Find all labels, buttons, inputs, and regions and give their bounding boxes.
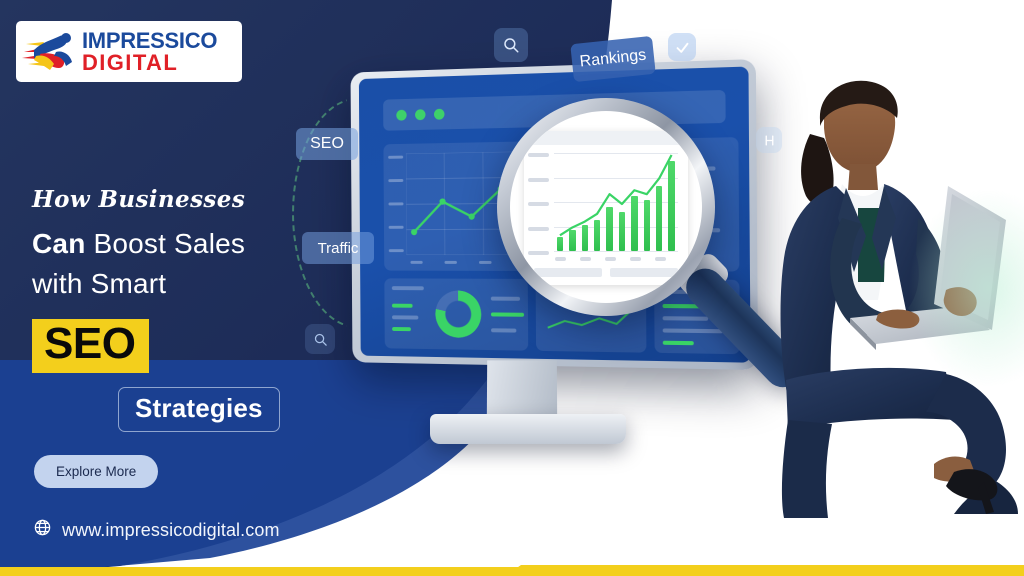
x-tick — [445, 261, 457, 264]
y-tick — [388, 156, 403, 159]
website-url-text: www.impressicodigital.com — [62, 520, 280, 541]
footer-chip — [610, 268, 678, 277]
headline-boxed-strategies: Strategies — [118, 387, 280, 432]
magnifying-glass — [497, 98, 797, 398]
floating-tag-label: Rankings — [579, 47, 647, 72]
y-tick-label — [528, 227, 549, 231]
check-icon[interactable] — [668, 33, 696, 61]
headline-line-3: with Smart — [32, 264, 332, 304]
search-icon[interactable] — [494, 28, 528, 62]
businesswoman-with-laptop — [758, 68, 1024, 518]
x-tick — [410, 261, 422, 264]
y-tick-label — [528, 251, 549, 255]
brand-logo[interactable]: IMPRESSICO DIGITAL — [16, 21, 242, 82]
window-dot — [415, 109, 425, 120]
globe-icon — [33, 518, 52, 542]
report-card-header — [524, 131, 688, 145]
y-tick — [388, 179, 403, 182]
headline-line-2: Can Boost Sales — [32, 224, 332, 264]
headline-line-2-rest: Boost Sales — [86, 228, 246, 259]
magnifier-bar-chart — [554, 153, 678, 251]
window-dot — [396, 109, 406, 120]
window-dot — [434, 108, 445, 119]
grid-line — [554, 251, 678, 252]
x-tick-label — [655, 257, 666, 261]
headline-block: How Businesses Can Boost Sales with Smar… — [32, 186, 332, 432]
magnifier-lens — [497, 98, 715, 316]
x-tick-label — [555, 257, 566, 261]
y-tick — [389, 249, 404, 252]
y-tick — [388, 202, 403, 205]
x-tick-label — [580, 257, 591, 261]
bottom-yellow-bar — [505, 565, 1024, 576]
logo-text-digital: DIGITAL — [82, 52, 217, 74]
x-tick-label — [630, 257, 641, 261]
explore-more-button[interactable]: Explore More — [34, 455, 158, 488]
footer-chip — [534, 268, 602, 277]
headline-highlight-seo: SEO — [32, 319, 149, 373]
floating-tag-seo[interactable]: SEO — [296, 128, 358, 160]
green-glow — [908, 188, 1024, 388]
floating-tag-label: SEO — [310, 135, 344, 153]
headline-script-line: How Businesses — [32, 186, 332, 213]
running-figure-icon — [22, 30, 78, 74]
y-tick-label — [528, 202, 549, 206]
y-tick-label — [528, 178, 549, 182]
x-tick-label — [605, 257, 616, 261]
dashboard-donut-chart — [435, 290, 481, 338]
magnified-report-card — [524, 131, 688, 285]
logo-text-impressico: IMPRESSICO — [82, 30, 217, 52]
x-tick — [479, 261, 492, 264]
monitor-base — [430, 414, 626, 444]
headline-word-can: Can — [32, 228, 86, 259]
y-tick-label — [528, 153, 549, 157]
y-tick — [389, 226, 404, 229]
report-card-footer — [534, 268, 678, 277]
website-url-row[interactable]: www.impressicodigital.com — [33, 518, 280, 542]
logo-wordmark: IMPRESSICO DIGITAL — [82, 30, 217, 73]
banner-stage: SEO Traffic Rankings — [0, 0, 1024, 576]
